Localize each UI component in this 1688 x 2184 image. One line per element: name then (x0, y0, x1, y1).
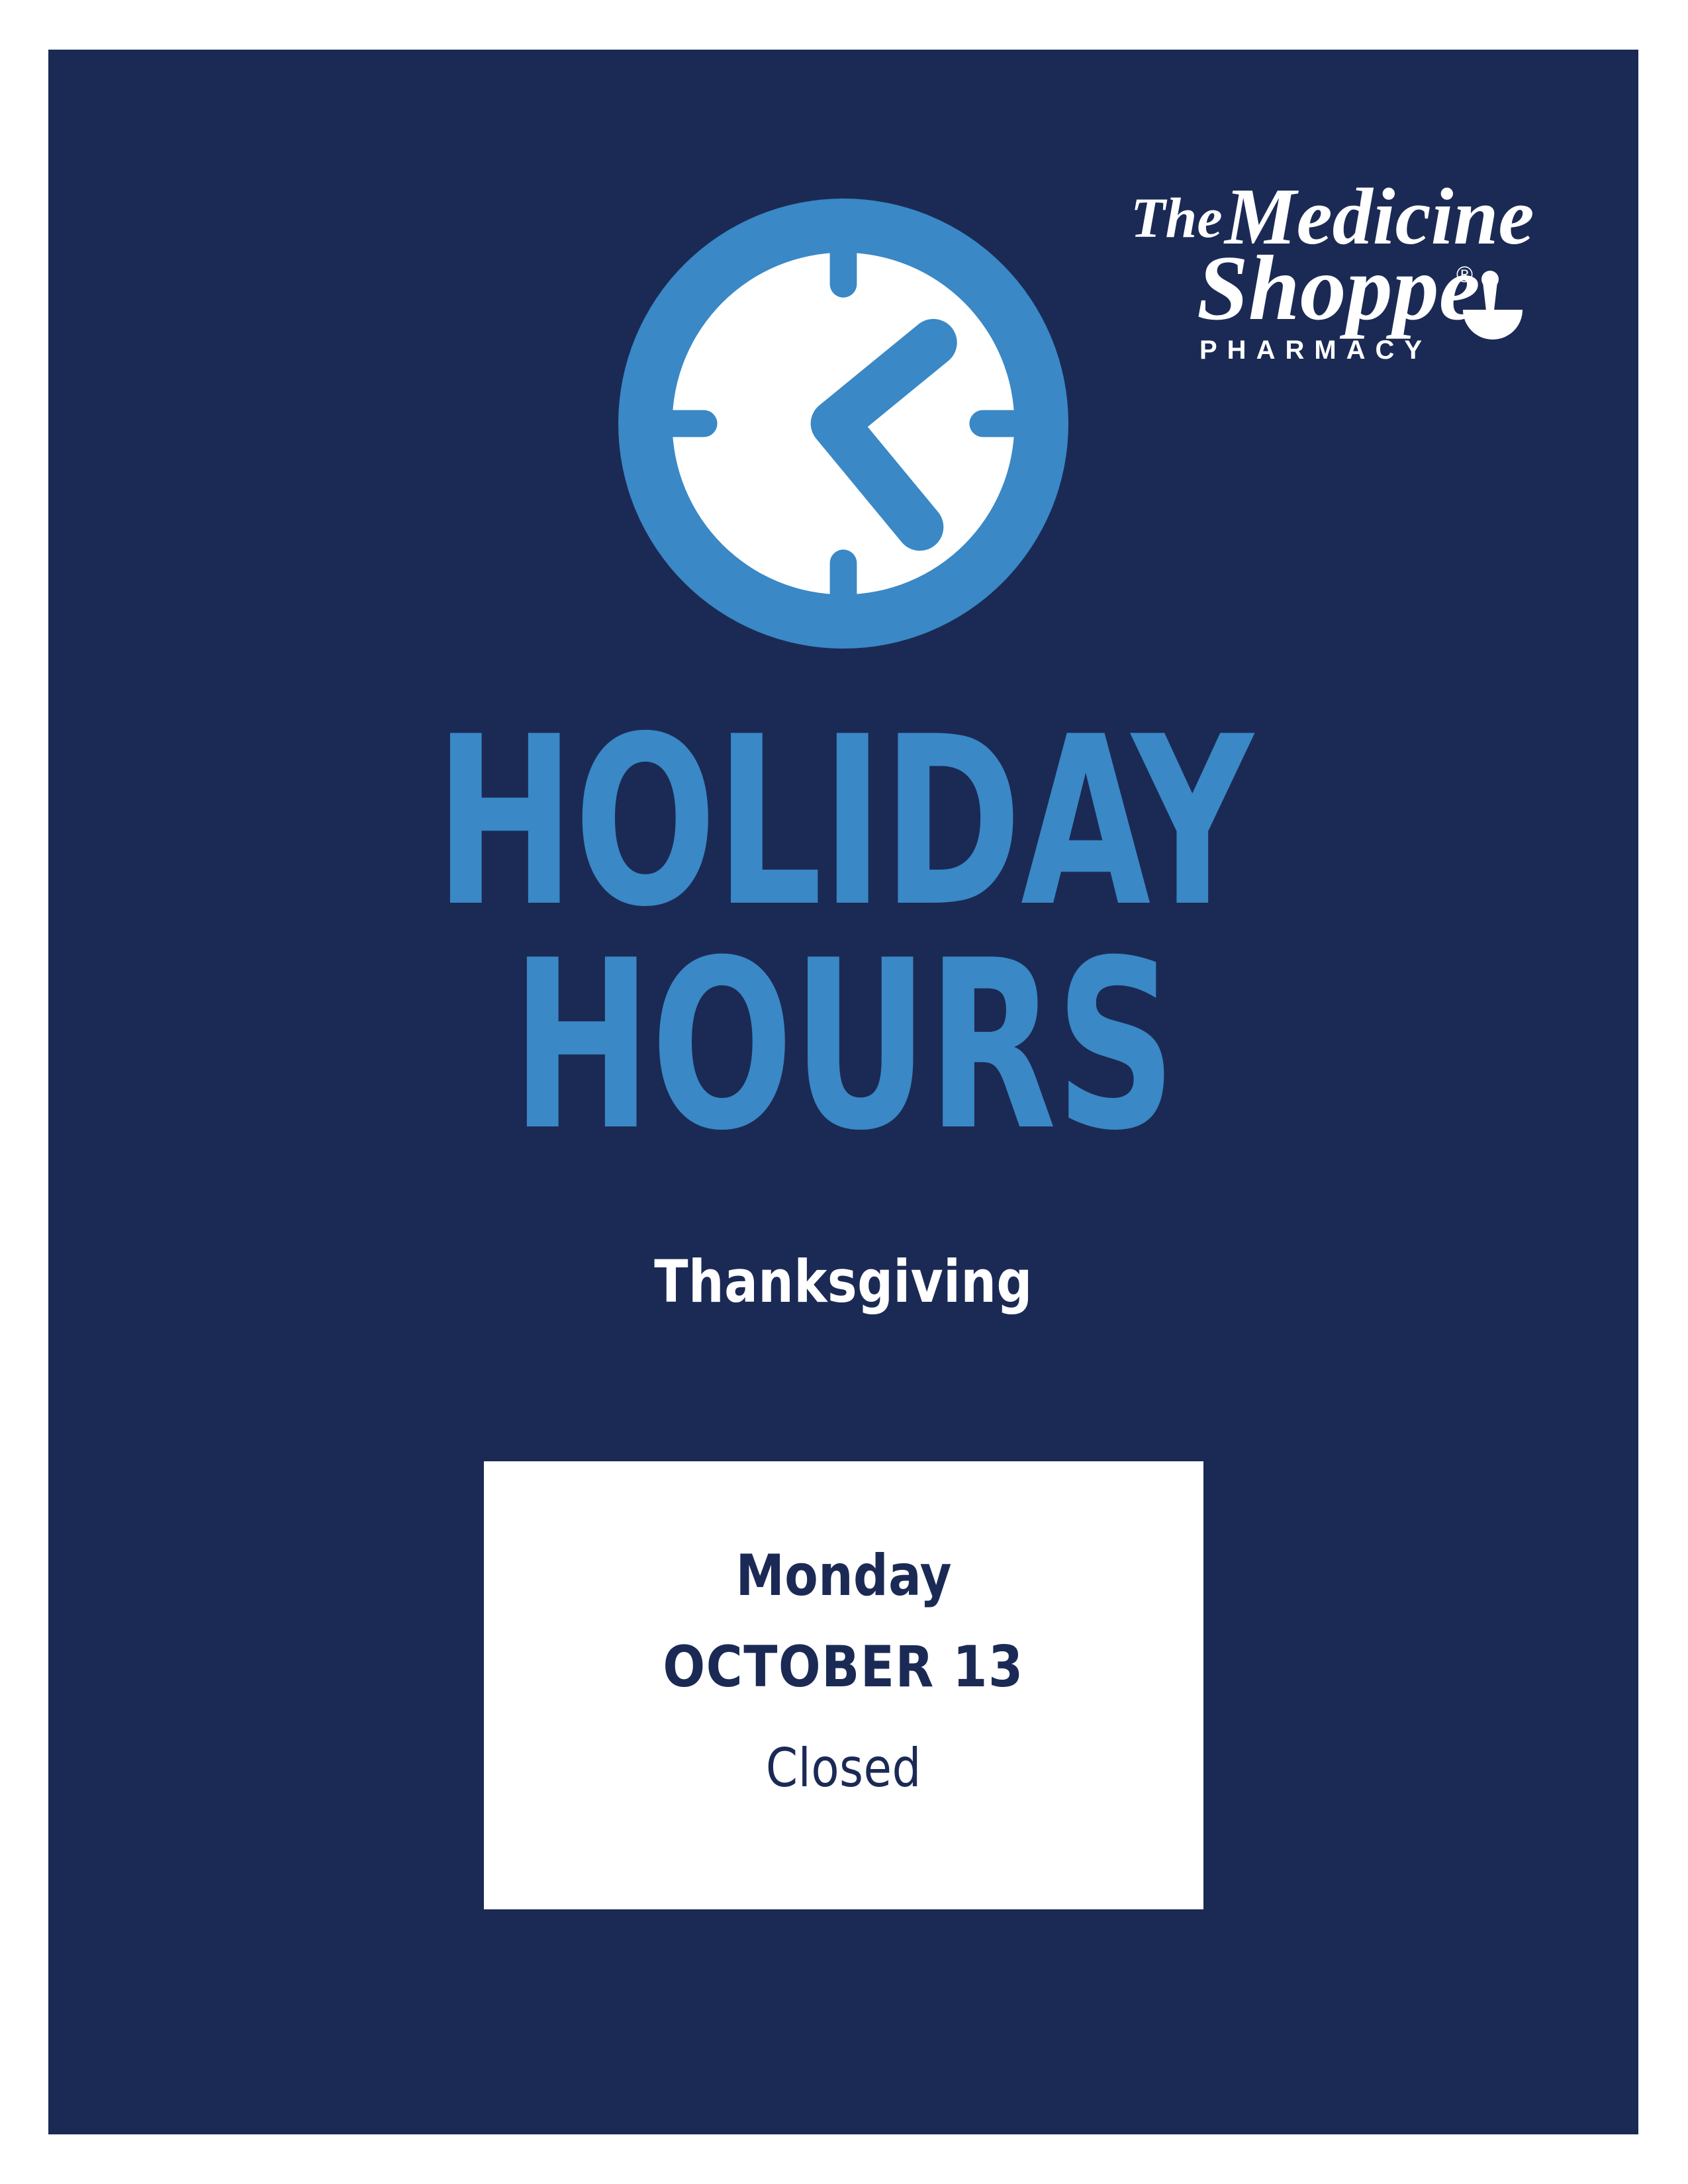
clock-icon-container (48, 199, 1638, 649)
headline-line-hours: HOURS (207, 935, 1479, 1159)
headline-line-holiday: HOLIDAY (207, 711, 1479, 935)
hours-card-date: OCTOBER 13 (663, 1639, 1024, 1696)
hours-card-day: Monday (735, 1547, 951, 1604)
hours-card-status: Closed (766, 1742, 921, 1795)
holiday-subtitle: Thanksgiving (88, 1253, 1599, 1311)
hours-card: Monday OCTOBER 13 Closed (484, 1461, 1203, 1909)
holiday-hours-poster: The Medicine Shoppe ® PHARMACY (48, 50, 1638, 2134)
clock-icon (618, 199, 1068, 649)
headline: HOLIDAY HOURS (48, 711, 1638, 1159)
